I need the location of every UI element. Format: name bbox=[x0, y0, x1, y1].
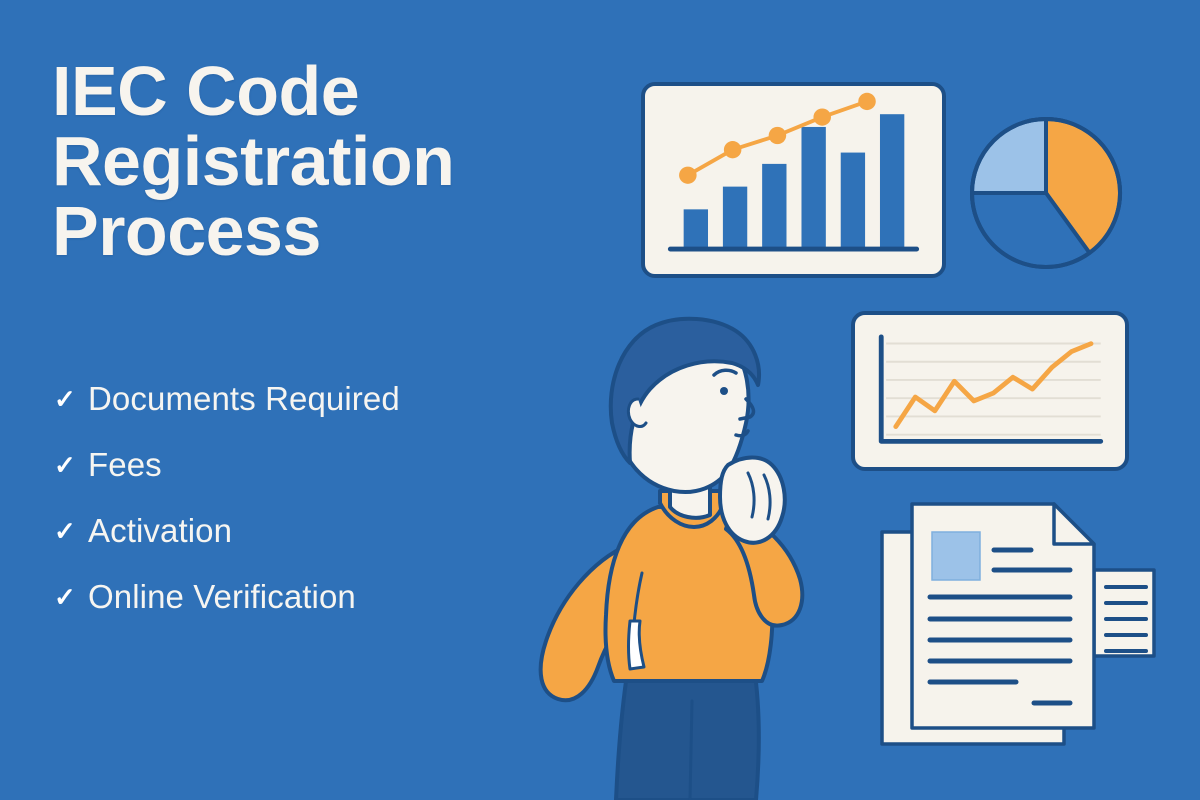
check-icon: ✓ bbox=[54, 452, 88, 478]
list-item: ✓ Online Verification bbox=[54, 564, 574, 630]
bar-chart-trend-marker bbox=[724, 141, 742, 158]
document-stack bbox=[878, 490, 1158, 760]
feature-list: ✓ Documents Required ✓ Fees ✓ Activation… bbox=[54, 366, 574, 630]
person-trouser-seam bbox=[690, 701, 692, 800]
feature-label: Documents Required bbox=[88, 380, 400, 418]
person-eye bbox=[720, 387, 728, 395]
bar-chart-bar bbox=[801, 127, 825, 249]
bar-chart-svg bbox=[645, 86, 942, 274]
feature-label: Activation bbox=[88, 512, 232, 550]
bar-chart-bar bbox=[762, 164, 786, 249]
bar-chart-trend-marker bbox=[813, 108, 831, 125]
banner-canvas: IEC Code Registration Process ✓ Document… bbox=[0, 0, 1200, 800]
bar-chart-bar bbox=[880, 114, 904, 249]
page-title: IEC Code Registration Process bbox=[52, 56, 582, 266]
bar-chart-trend-marker bbox=[769, 127, 787, 144]
feature-label: Fees bbox=[88, 446, 162, 484]
thinking-person-illustration bbox=[510, 295, 900, 800]
line-chart-series bbox=[896, 344, 1091, 427]
pie-chart bbox=[966, 113, 1126, 273]
feature-label: Online Verification bbox=[88, 578, 356, 616]
bar-chart-bar bbox=[723, 187, 747, 249]
list-item: ✓ Fees bbox=[54, 432, 574, 498]
list-item: ✓ Activation bbox=[54, 498, 574, 564]
text-column: IEC Code Registration Process ✓ Document… bbox=[52, 56, 582, 266]
line-chart-gridlines bbox=[886, 344, 1101, 435]
bar-chart-bar bbox=[684, 209, 708, 249]
document-page-back-right bbox=[1094, 570, 1154, 656]
bar-chart-card bbox=[641, 82, 946, 278]
check-icon: ✓ bbox=[54, 518, 88, 544]
bar-chart-trend-marker bbox=[679, 167, 697, 184]
document-folded-corner bbox=[1054, 504, 1094, 544]
document-page-front bbox=[912, 504, 1094, 728]
bar-chart-trend-marker bbox=[858, 93, 876, 110]
person-trousers bbox=[616, 667, 759, 800]
document-image-placeholder bbox=[932, 532, 980, 580]
bar-chart-bar bbox=[841, 153, 865, 249]
person-hand bbox=[720, 458, 785, 543]
bar-chart-bars bbox=[684, 114, 905, 249]
check-icon: ✓ bbox=[54, 386, 88, 412]
list-item: ✓ Documents Required bbox=[54, 366, 574, 432]
check-icon: ✓ bbox=[54, 584, 88, 610]
